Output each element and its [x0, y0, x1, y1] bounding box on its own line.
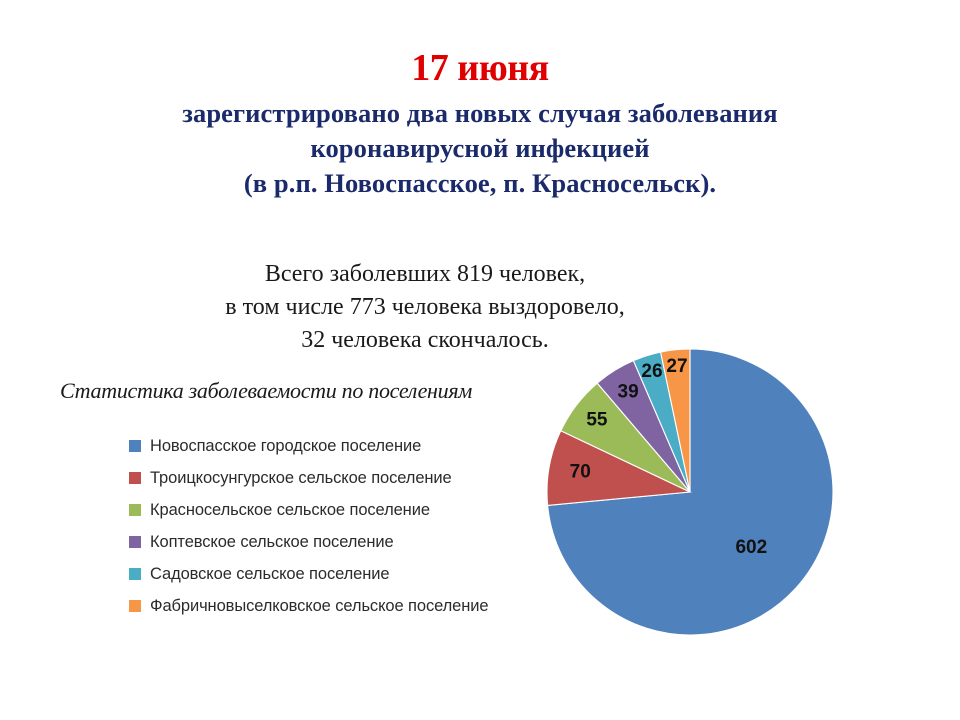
- pie-slice-label: 27: [666, 356, 687, 377]
- legend-item-label: Фабричновыселковское сельское поселение: [150, 597, 488, 616]
- pie-slice-label: 39: [618, 381, 639, 402]
- chart-legend: Новоспасское городское поселениеТроицкос…: [129, 430, 569, 622]
- legend-item[interactable]: Троицкосунгурское сельское поселение: [129, 462, 569, 494]
- legend-item[interactable]: Новоспасское городское поселение: [129, 430, 569, 462]
- legend-item-label: Новоспасское городское поселение: [150, 437, 421, 456]
- chart-title: Статистика заболеваемости по поселениям: [60, 378, 472, 404]
- legend-item-label: Красносельское сельское поселение: [150, 501, 430, 520]
- legend-item[interactable]: Фабричновыселковское сельское поселение: [129, 590, 569, 622]
- header-block: 17 июня зарегистрировано два новых случа…: [0, 46, 960, 201]
- legend-color-swatch: [129, 440, 141, 452]
- legend-item-label: Троицкосунгурское сельское поселение: [150, 469, 452, 488]
- totals-line-cases: Всего заболевших 819 человек,: [0, 258, 850, 291]
- pie-slice-label: 70: [570, 462, 591, 483]
- legend-item[interactable]: Садовское сельское поселение: [129, 558, 569, 590]
- legend-color-swatch: [129, 600, 141, 612]
- pie-chart-svg: 6027055392627: [540, 340, 850, 650]
- legend-color-swatch: [129, 504, 141, 516]
- pie-chart: 6027055392627: [540, 340, 850, 650]
- pie-slice-label: 602: [735, 537, 767, 558]
- legend-color-swatch: [129, 472, 141, 484]
- pie-slice-label: 26: [641, 361, 662, 382]
- headline-line-1: зарегистрировано два новых случая заболе…: [0, 96, 960, 131]
- legend-item[interactable]: Коптевское сельское поселение: [129, 526, 569, 558]
- totals-line-recovered: в том числе 773 человека выздоровело,: [0, 291, 850, 324]
- legend-color-swatch: [129, 536, 141, 548]
- legend-item[interactable]: Красносельское сельское поселение: [129, 494, 569, 526]
- headline-line-2: коронавирусной инфекцией: [0, 131, 960, 166]
- legend-color-swatch: [129, 568, 141, 580]
- legend-item-label: Садовское сельское поселение: [150, 565, 389, 584]
- page-title-date: 17 июня: [0, 46, 960, 90]
- pie-slice-label: 55: [586, 410, 608, 431]
- headline-line-3: (в р.п. Новоспасское, п. Красносельск).: [0, 166, 960, 201]
- legend-item-label: Коптевское сельское поселение: [150, 533, 394, 552]
